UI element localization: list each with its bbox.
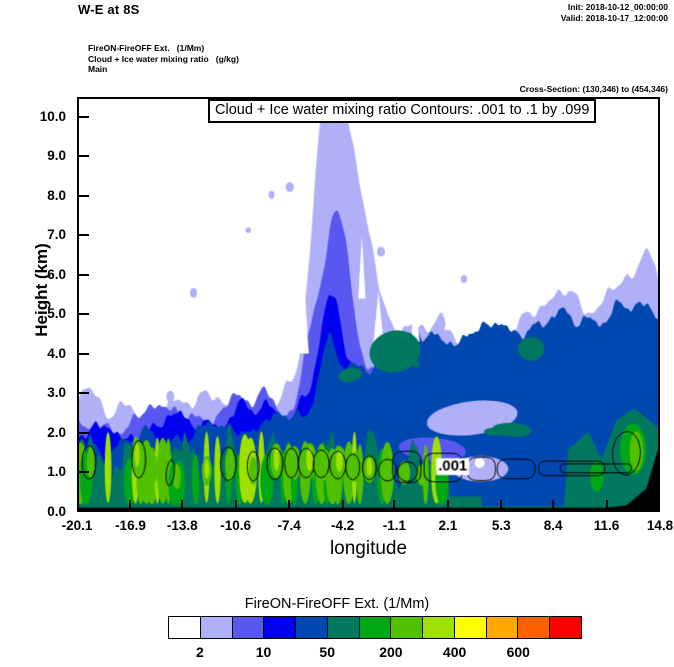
y-tick-label: 10.0 <box>6 110 66 123</box>
x-tick-mark <box>606 500 608 511</box>
contour-legend: Cloud + Ice water mixing ratio Contours:… <box>208 99 596 123</box>
y-tick-mark <box>79 353 89 355</box>
y-tick-mark <box>79 155 89 157</box>
y-tick-mark <box>79 116 89 118</box>
colorbar-swatch <box>550 617 581 638</box>
colorbar-swatch <box>296 617 328 638</box>
colorbar-swatch <box>201 617 233 638</box>
y-tick-label: 5.0 <box>6 307 66 320</box>
y-tick-label: 6.0 <box>6 268 66 281</box>
colorbar-swatch <box>328 617 360 638</box>
colorbar-swatch <box>264 617 296 638</box>
y-tick-label: 2.0 <box>6 426 66 439</box>
x-tick-label: 14.8 <box>625 518 674 533</box>
valid-time: Valid: 2018-10-17_12:00:00 <box>561 13 668 24</box>
init-time: Init: 2018-10-12_00:00:00 <box>561 2 668 13</box>
y-tick-label: 3.0 <box>6 386 66 399</box>
field-info: FireON-FireOFF Ext. (1/Mm) Cloud + Ice w… <box>88 43 239 75</box>
y-tick-label: 7.0 <box>6 228 66 241</box>
x-tick-mark <box>447 500 449 511</box>
colorbar-tick-label: 2 <box>170 644 230 660</box>
x-tick-mark <box>129 500 131 511</box>
colorbar-swatch <box>360 617 392 638</box>
y-tick-label: 4.0 <box>6 347 66 360</box>
cross-section-info: Cross-Section: (130,346) to (454,346) <box>520 84 668 94</box>
y-tick-label: 9.0 <box>6 149 66 162</box>
run-times: Init: 2018-10-12_00:00:00 Valid: 2018-10… <box>561 2 668 24</box>
colorbar-tick-label: 10 <box>234 644 294 660</box>
y-tick-label: 1.0 <box>6 465 66 478</box>
x-tick-mark <box>500 500 502 511</box>
colorbar-tick-label: 600 <box>488 644 548 660</box>
colorbar-tick-label: 400 <box>425 644 485 660</box>
y-tick-mark <box>79 392 89 394</box>
x-tick-mark <box>235 500 237 511</box>
y-tick-mark <box>79 471 89 473</box>
page-title: W-E at 8S <box>78 2 140 17</box>
x-tick-mark <box>552 500 554 511</box>
y-tick-mark <box>79 432 89 434</box>
colorbar-title: FireON-FireOFF Ext. (1/Mm) <box>137 596 537 612</box>
colorbar-tick-label: 200 <box>361 644 421 660</box>
colorbar-tick-label: 50 <box>297 644 357 660</box>
colorbar-swatch <box>518 617 550 638</box>
cross-section-heatmap <box>79 99 658 510</box>
colorbar-swatch <box>169 617 201 638</box>
colorbar-swatch <box>487 617 519 638</box>
x-tick-mark <box>393 500 395 511</box>
y-tick-label: 0.0 <box>6 505 66 518</box>
y-tick-mark <box>79 234 89 236</box>
y-tick-mark <box>79 195 89 197</box>
colorbar-swatch <box>455 617 487 638</box>
x-tick-mark <box>288 500 290 511</box>
y-tick-label: 8.0 <box>6 189 66 202</box>
colorbar-swatch <box>233 617 265 638</box>
plot-area <box>77 97 660 512</box>
x-tick-mark <box>342 500 344 511</box>
y-tick-mark <box>79 313 89 315</box>
colorbar-swatch <box>423 617 455 638</box>
x-tick-mark <box>181 500 183 511</box>
y-tick-mark <box>79 274 89 276</box>
x-axis-title: longitude <box>77 538 660 560</box>
colorbar <box>168 616 582 639</box>
colorbar-swatch <box>391 617 423 638</box>
